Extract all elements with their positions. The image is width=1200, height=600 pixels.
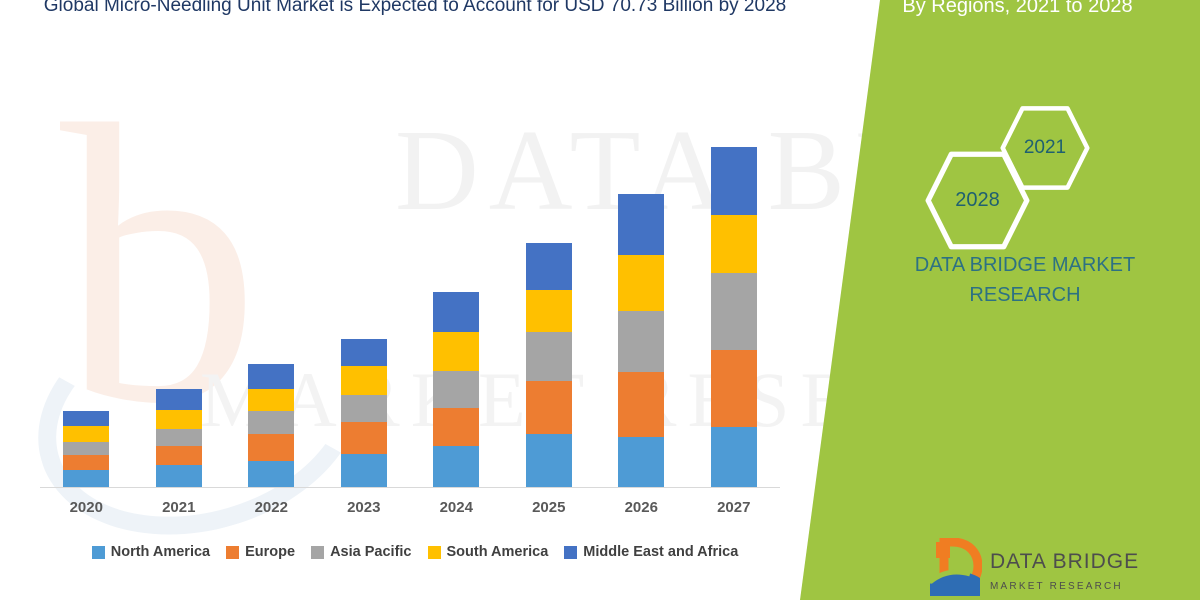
bar-segment bbox=[526, 243, 572, 290]
bar-segment bbox=[526, 332, 572, 381]
bar-segment bbox=[711, 427, 757, 487]
legend-swatch-icon bbox=[428, 546, 441, 559]
bar-column bbox=[595, 120, 687, 487]
bar-segment bbox=[248, 461, 294, 487]
legend-label: North America bbox=[111, 544, 210, 560]
bar-segment bbox=[63, 455, 109, 469]
bar-segment bbox=[248, 411, 294, 434]
bar-segment bbox=[341, 395, 387, 422]
bar-segment bbox=[433, 292, 479, 332]
x-axis-tick-2022: 2022 bbox=[225, 499, 317, 516]
legend-label: Asia Pacific bbox=[330, 544, 411, 560]
x-axis-tick-2025: 2025 bbox=[503, 499, 595, 516]
bar-segment bbox=[433, 408, 479, 447]
bar-segment bbox=[618, 311, 664, 372]
chart-legend: North AmericaEuropeAsia PacificSouth Ame… bbox=[30, 538, 800, 566]
x-axis-tick-labels: 20202021202220232024202520262027 bbox=[40, 492, 780, 522]
bar-segment bbox=[63, 411, 109, 426]
bar-segment bbox=[248, 364, 294, 388]
bar-segment bbox=[248, 389, 294, 411]
stacked-bar bbox=[618, 194, 664, 487]
bar-segment bbox=[156, 429, 202, 446]
stacked-bar bbox=[156, 389, 202, 487]
stacked-bar bbox=[711, 147, 757, 487]
stacked-bar bbox=[63, 411, 109, 487]
legend-item[interactable]: North America bbox=[92, 544, 210, 560]
bar-segment bbox=[156, 446, 202, 464]
legend-item[interactable]: South America bbox=[428, 544, 549, 560]
x-axis-tick-2020: 2020 bbox=[40, 499, 132, 516]
bar-segment bbox=[618, 437, 664, 487]
hexagon-2028-label: 2028 bbox=[955, 189, 1000, 212]
bar-segment bbox=[63, 470, 109, 487]
bar-column bbox=[410, 120, 502, 487]
bar-column bbox=[133, 120, 225, 487]
legend-swatch-icon bbox=[226, 546, 239, 559]
legend-swatch-icon bbox=[311, 546, 324, 559]
chart-panel: Global Micro-Needling Unit Market is Exp… bbox=[0, 0, 830, 600]
stacked-bar bbox=[341, 339, 387, 487]
hexagon-2021-label: 2021 bbox=[1024, 137, 1066, 159]
legend-item[interactable]: Europe bbox=[226, 544, 295, 560]
bar-segment bbox=[156, 410, 202, 429]
bar-column bbox=[503, 120, 595, 487]
bar-segment bbox=[618, 255, 664, 311]
bar-segment bbox=[618, 194, 664, 255]
bar-segment bbox=[63, 442, 109, 456]
x-axis-tick-2021: 2021 bbox=[133, 499, 225, 516]
bar-column bbox=[688, 120, 780, 487]
bar-segment bbox=[156, 389, 202, 410]
bar-column bbox=[318, 120, 410, 487]
chart-infographic: b DATA BRIDGE MARKET RESEARCH Global Mic… bbox=[0, 0, 1200, 600]
bar-segment bbox=[711, 147, 757, 215]
stacked-bar bbox=[526, 243, 572, 487]
x-axis-line bbox=[40, 487, 780, 488]
bar-segment bbox=[711, 350, 757, 427]
x-axis-tick-2023: 2023 bbox=[318, 499, 410, 516]
bar-segment bbox=[248, 434, 294, 461]
logo-text-block: DATA BRIDGE MARKET RESEARCH bbox=[990, 538, 1139, 592]
green-panel-title: By Regions, 2021 to 2028 bbox=[800, 0, 1200, 18]
bar-segment bbox=[341, 339, 387, 366]
stacked-bar bbox=[248, 364, 294, 487]
bar-segment bbox=[711, 215, 757, 273]
bar-segment bbox=[526, 434, 572, 487]
brand-line-2: RESEARCH bbox=[860, 280, 1190, 310]
bar-segment bbox=[156, 465, 202, 487]
bar-column bbox=[225, 120, 317, 487]
bar-segment bbox=[433, 332, 479, 372]
legend-label: Europe bbox=[245, 544, 295, 560]
bar-segment bbox=[711, 273, 757, 350]
bar-segment bbox=[63, 426, 109, 441]
brand-name: DATA BRIDGE MARKET RESEARCH bbox=[860, 250, 1190, 310]
bar-column bbox=[40, 120, 132, 487]
bar-segment bbox=[341, 422, 387, 454]
legend-item[interactable]: Asia Pacific bbox=[311, 544, 411, 560]
hexagon-2021: 2021 bbox=[1000, 103, 1090, 193]
bar-segment bbox=[526, 381, 572, 434]
bar-segment bbox=[341, 454, 387, 487]
bar-segment bbox=[433, 371, 479, 408]
legend-swatch-icon bbox=[564, 546, 577, 559]
bar-segment bbox=[341, 366, 387, 395]
bar-segment bbox=[526, 290, 572, 332]
bar-segment bbox=[433, 446, 479, 487]
logo-subtitle: MARKET RESEARCH bbox=[990, 581, 1139, 592]
green-side-panel: By Regions, 2021 to 2028 2028 2021 DATA … bbox=[800, 0, 1200, 600]
brand-line-1: DATA BRIDGE MARKET bbox=[860, 250, 1190, 280]
chart-title: Global Micro-Needling Unit Market is Exp… bbox=[0, 0, 830, 20]
bar-segment bbox=[618, 372, 664, 437]
legend-item[interactable]: Middle East and Africa bbox=[564, 544, 738, 560]
bridge-logo-icon bbox=[930, 538, 982, 596]
x-axis-tick-2024: 2024 bbox=[410, 499, 502, 516]
x-axis-tick-2027: 2027 bbox=[688, 499, 780, 516]
legend-label: Middle East and Africa bbox=[583, 544, 738, 560]
x-axis-tick-2026: 2026 bbox=[595, 499, 687, 516]
company-logo: DATA BRIDGE MARKET RESEARCH bbox=[930, 538, 1190, 600]
logo-title: DATA BRIDGE bbox=[990, 550, 1139, 578]
stacked-bar-plot bbox=[40, 120, 780, 487]
legend-swatch-icon bbox=[92, 546, 105, 559]
stacked-bar bbox=[433, 292, 479, 487]
legend-label: South America bbox=[447, 544, 549, 560]
